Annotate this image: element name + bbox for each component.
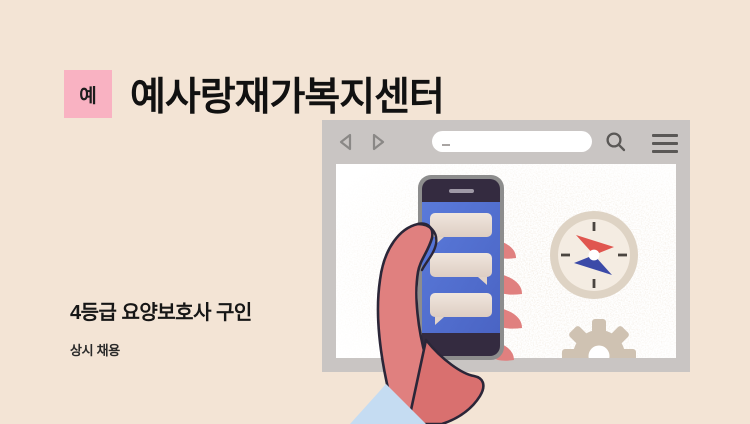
- brand-row: 예 예사랑재가복지센터: [64, 66, 444, 122]
- browser-toolbar: [322, 120, 690, 164]
- browser-window: [322, 120, 690, 372]
- back-triangle-icon[interactable]: [336, 132, 356, 152]
- job-headline: 4등급 요양보호사 구인: [70, 296, 252, 325]
- menu-bar-2: [652, 142, 678, 145]
- brand-name: 예사랑재가복지센터: [130, 66, 444, 122]
- compass-icon: [548, 209, 640, 301]
- brand-badge: 예: [64, 70, 112, 118]
- gear-icon: [562, 319, 636, 358]
- job-subline: 상시 채용: [70, 340, 120, 359]
- poster-canvas: 예 예사랑재가복지센터 4등급 요양보호사 구인 상시 채용: [0, 0, 750, 424]
- menu-bar-3: [652, 150, 678, 153]
- browser-nav-arrows: [336, 132, 388, 152]
- browser-url-input[interactable]: [432, 131, 592, 152]
- forward-triangle-icon[interactable]: [368, 132, 388, 152]
- menu-bar-1: [652, 134, 678, 137]
- hamburger-menu-icon[interactable]: [652, 134, 678, 153]
- url-caret: [442, 144, 450, 146]
- search-icon[interactable]: [604, 130, 628, 159]
- browser-content-area: [336, 164, 676, 358]
